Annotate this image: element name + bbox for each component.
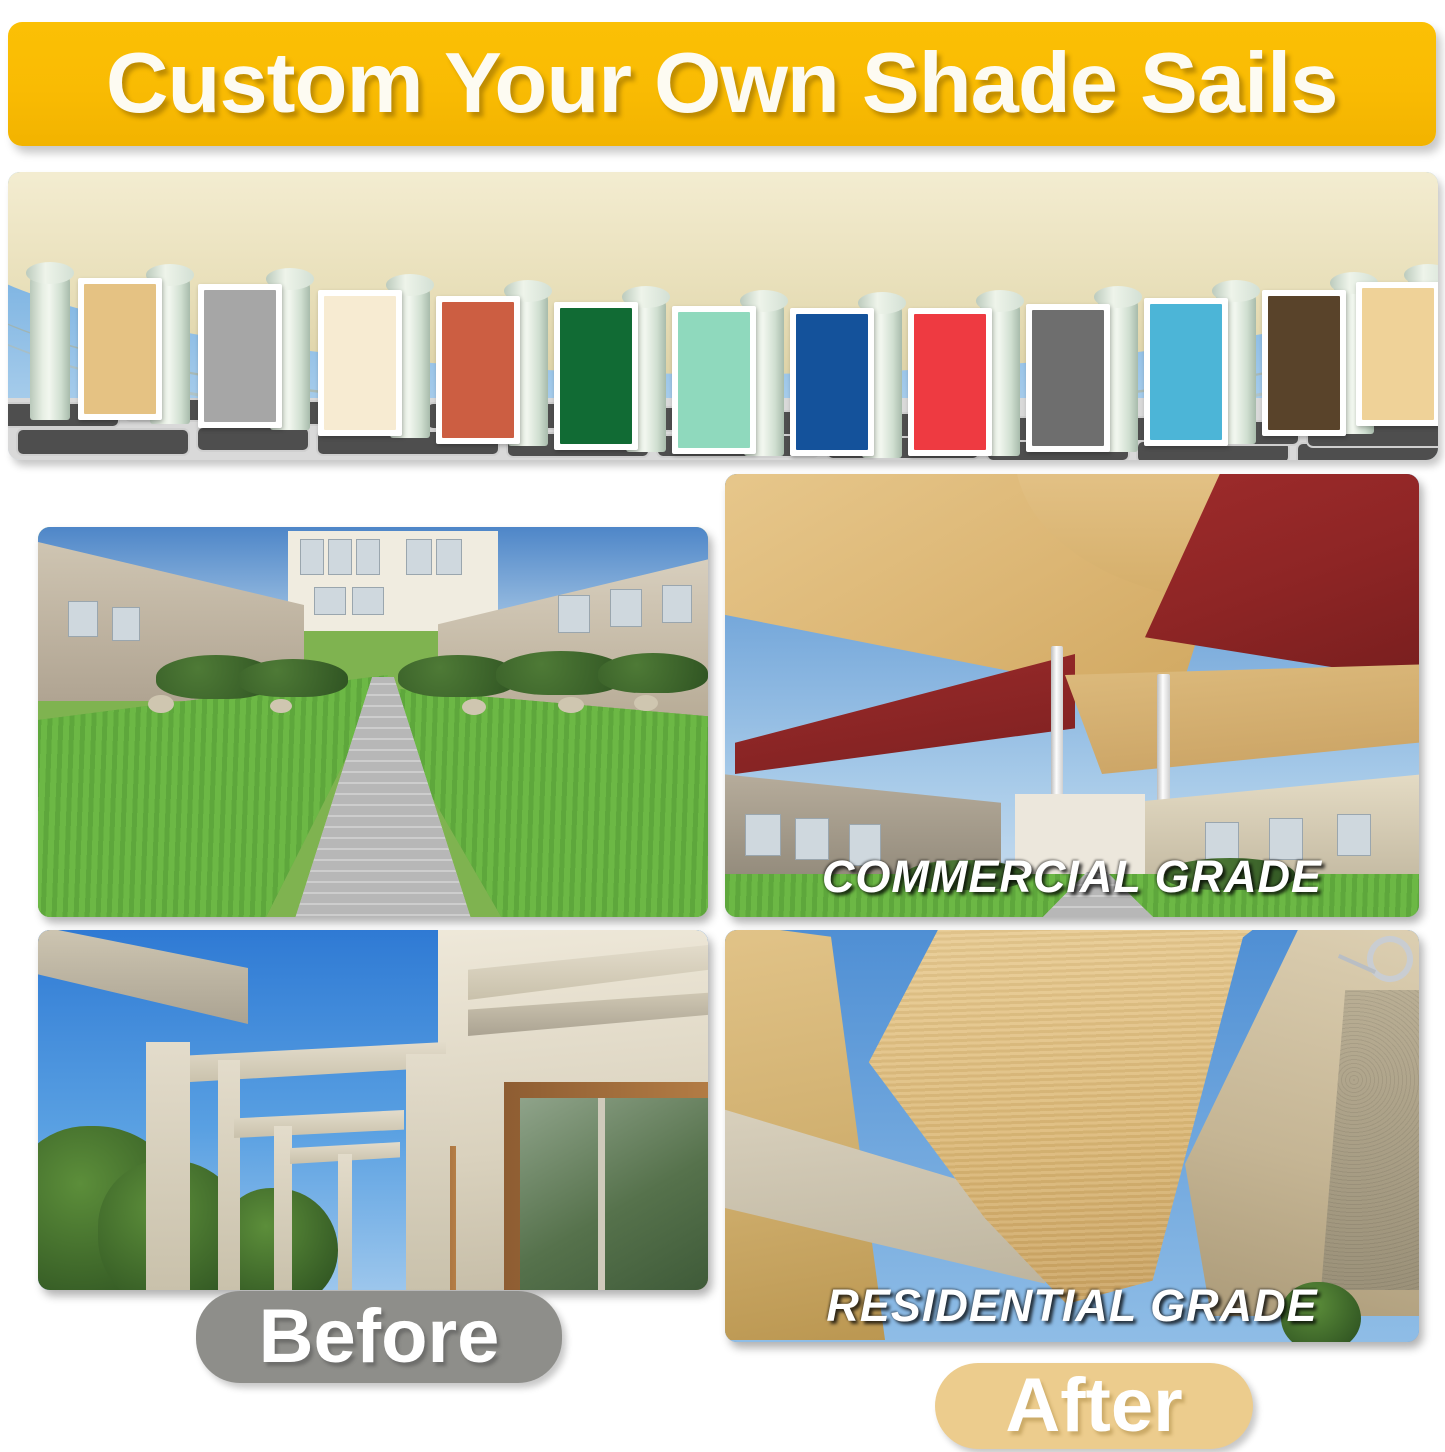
badge-after-label: After — [1005, 1368, 1182, 1444]
swatch-beige-cream[interactable] — [318, 290, 402, 436]
swatch-terracotta-red-fill — [442, 302, 514, 438]
rock — [148, 695, 174, 713]
swatch-brown-fill — [1268, 296, 1340, 430]
residential-grade-caption: RESIDENTIAL GRADE — [725, 1280, 1419, 1332]
swatch-navy-blue-fill — [796, 314, 868, 450]
swatch-sand[interactable] — [78, 278, 162, 420]
badge-before-label: Before — [259, 1299, 500, 1375]
swatch-grey-fill — [204, 290, 276, 422]
window — [300, 539, 324, 575]
swatch-dark-green[interactable] — [554, 302, 638, 450]
window — [558, 595, 590, 633]
rock — [634, 695, 658, 711]
swatch-navy-blue[interactable] — [790, 308, 874, 456]
hedge — [238, 659, 348, 697]
window — [328, 539, 352, 575]
swatch-brown[interactable] — [1262, 290, 1346, 436]
pergola-beam — [146, 1042, 190, 1290]
swatch-beige-cream-fill — [324, 296, 396, 430]
commercial-grade-caption: COMMERCIAL GRADE — [725, 851, 1419, 903]
window — [112, 607, 140, 641]
rock — [462, 699, 486, 715]
window — [406, 539, 432, 575]
window — [745, 814, 781, 856]
header-banner: Custom Your Own Shade Sails — [8, 22, 1436, 146]
swatch-dark-green-fill — [560, 308, 632, 444]
window — [314, 587, 346, 615]
swatch-wheat-tan[interactable] — [1356, 282, 1438, 426]
color-swatch-colonnade — [8, 172, 1438, 460]
photo-commercial-grade: COMMERCIAL GRADE — [725, 474, 1419, 917]
swatch-red[interactable] — [908, 308, 992, 456]
hedge — [598, 653, 708, 693]
photo-before-pergola — [38, 930, 708, 1290]
window — [68, 601, 98, 637]
columns-and-swatches — [8, 172, 1438, 460]
photo-residential-grade: RESIDENTIAL GRADE — [725, 930, 1419, 1342]
swatch-turquoise-blue[interactable] — [1144, 298, 1228, 446]
window — [356, 539, 380, 575]
rock — [270, 699, 292, 713]
window — [610, 589, 642, 627]
swatch-mint-green-fill — [678, 312, 750, 448]
glass-door — [520, 1098, 708, 1290]
swatch-dark-grey-fill — [1032, 310, 1104, 446]
pergola-beam — [338, 1154, 352, 1290]
swatch-mint-green[interactable] — [672, 306, 756, 454]
swatch-turquoise-blue-fill — [1150, 304, 1222, 440]
page-title: Custom Your Own Shade Sails — [106, 35, 1337, 133]
swatch-dark-grey[interactable] — [1026, 304, 1110, 452]
window — [352, 587, 384, 615]
swatch-sand-fill — [84, 284, 156, 414]
window — [436, 539, 462, 575]
window — [1337, 814, 1371, 856]
swatch-red-fill — [914, 314, 986, 450]
photo-before-courtyard — [38, 527, 708, 917]
pergola-beam — [406, 1054, 450, 1290]
rock — [558, 697, 584, 713]
swatch-grey[interactable] — [198, 284, 282, 428]
badge-after: After — [935, 1363, 1253, 1449]
swatch-wheat-tan-fill — [1362, 288, 1434, 420]
pergola-beam — [274, 1126, 292, 1290]
swatch-terracotta-red[interactable] — [436, 296, 520, 444]
window — [662, 585, 692, 623]
pergola-beam — [218, 1060, 240, 1290]
badge-before: Before — [196, 1291, 562, 1383]
